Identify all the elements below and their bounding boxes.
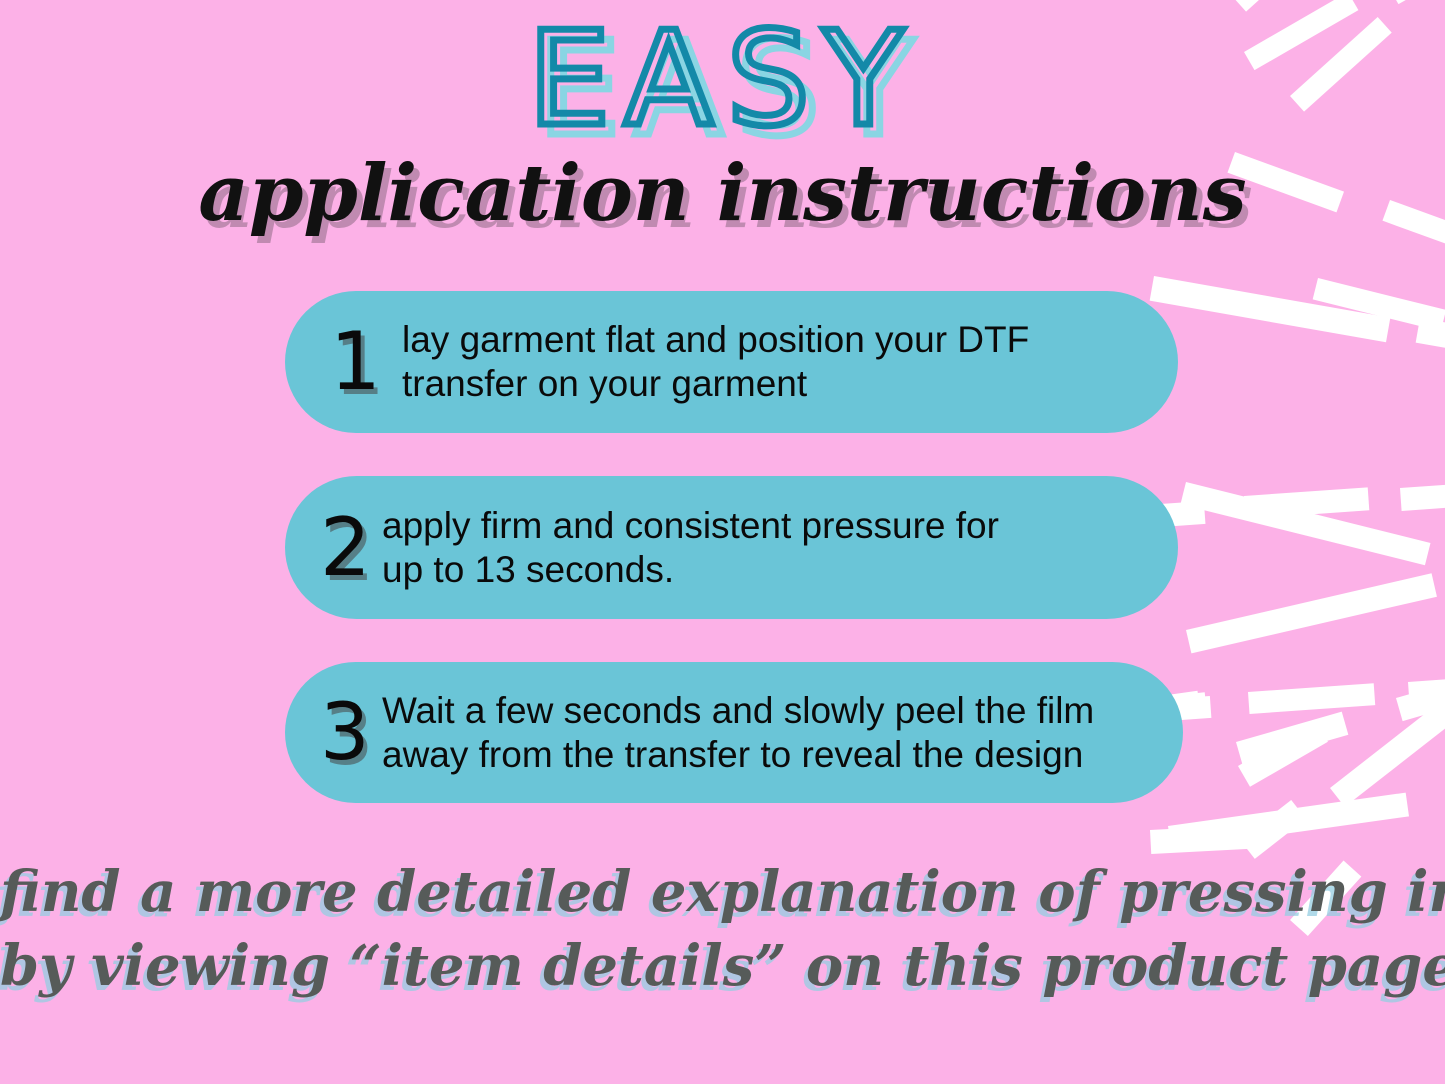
step-item-1: 1 lay garment flat and position your DTF… (285, 291, 1178, 433)
step-number-2: 2 (320, 508, 382, 588)
step-text-3: Wait a few seconds and slowly peel the f… (382, 689, 1183, 776)
step-item-3: 3 Wait a few seconds and slowly peel the… (285, 662, 1183, 803)
application-instructions-poster: EASY EASY application instructions 1 lay… (0, 0, 1445, 1084)
footer-note: find a more detailed explanation of pres… (0, 856, 1445, 1004)
step-number-3: 3 (320, 694, 382, 772)
page-title: EASY (0, 14, 1445, 144)
step-text-1: lay garment flat and position your DTF t… (402, 318, 1178, 405)
footer-line-2: by viewing “item details” on this produc… (0, 930, 1445, 1004)
step-item-2: 2 apply firm and consistent pressure for… (285, 476, 1178, 619)
footer-line-1: find a more detailed explanation of pres… (0, 856, 1445, 930)
step-number-1: 1 (320, 322, 402, 402)
steps-list: 1 lay garment flat and position your DTF… (285, 291, 1185, 846)
headline-application-instructions: application instructions (0, 155, 1445, 233)
step-text-2: apply firm and consistent pressure for u… (382, 504, 1178, 591)
